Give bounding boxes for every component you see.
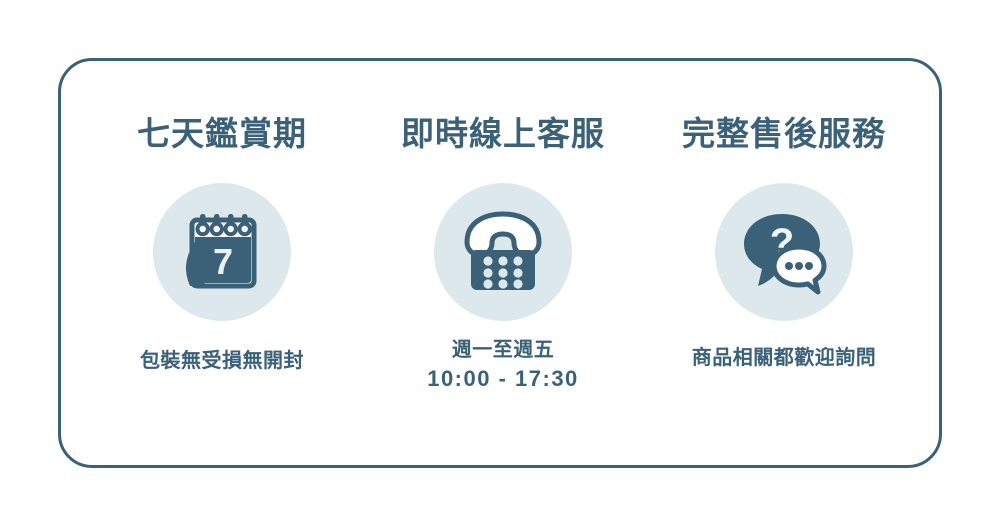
feature-title: 即時線上客服 <box>401 117 605 150</box>
calendar-day-number: 7 <box>213 241 233 282</box>
feature-caption: 週一至週五 10:00 - 17:30 <box>427 337 579 394</box>
feature-item-after-sales: 完整售後服務 ? <box>645 61 923 372</box>
icon-badge: 7 <box>153 183 291 321</box>
feature-caption: 包裝無受損無開封 <box>140 348 304 375</box>
feature-caption-line1: 週一至週五 <box>452 339 555 361</box>
speech-bubbles-question-icon: ? <box>736 208 832 296</box>
feature-columns: 七天鑑賞期 <box>61 61 945 465</box>
feature-caption-line1: 包裝無受損無開封 <box>140 350 304 372</box>
feature-item-seven-day-trial: 七天鑑賞期 <box>83 61 361 375</box>
feature-item-live-support: 即時線上客服 <box>364 61 642 394</box>
telephone-icon <box>455 206 551 298</box>
feature-title: 七天鑑賞期 <box>137 117 307 150</box>
calendar-seven-icon: 7 <box>176 206 268 298</box>
feature-title: 完整售後服務 <box>682 117 886 150</box>
service-highlights-banner: 七天鑑賞期 <box>0 0 1000 531</box>
icon-badge <box>434 183 572 321</box>
icon-badge: ? <box>715 183 853 321</box>
feature-caption: 商品相關都歡迎詢問 <box>692 345 877 372</box>
rounded-panel: 七天鑑賞期 <box>58 58 942 468</box>
feature-caption-line2: 10:00 - 17:30 <box>427 364 579 394</box>
feature-caption-line1: 商品相關都歡迎詢問 <box>692 347 877 369</box>
